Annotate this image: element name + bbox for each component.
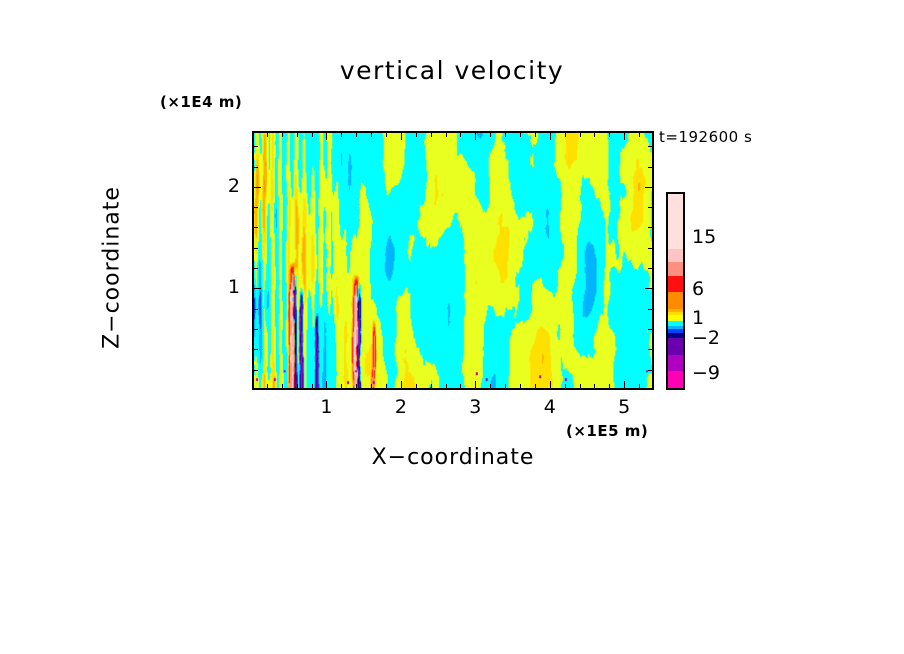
y-tick-label: 1 [210,276,240,298]
y-tick-right [648,146,652,147]
x-tick [624,381,625,388]
x-tick [535,384,536,388]
x-tick [297,384,298,388]
y-tick [254,227,258,228]
time-annotation: t=192600 s [659,128,752,146]
x-tick [475,381,476,388]
y-tick [254,248,258,249]
x-tick-top [446,133,447,137]
x-tick [386,384,387,388]
x-tick-top [460,133,461,137]
x-tick [371,384,372,388]
x-tick-top [312,133,313,137]
x-tick [580,384,581,388]
x-tick-top [550,133,551,140]
colorbar-band [668,262,683,276]
x-tick [326,381,327,388]
x-tick-top [416,133,417,137]
x-tick [312,384,313,388]
x-tick-top [609,133,610,137]
y-tick [254,167,258,168]
x-tick [267,384,268,388]
y-tick [254,187,261,188]
colorbar-tick-label: −2 [692,327,720,349]
y-tick-right [648,248,652,249]
y-tick-label: 2 [210,175,240,197]
x-tick-label: 2 [386,396,416,418]
x-tick-top [624,133,625,140]
colorbar-tick-label: 1 [692,307,704,329]
x-tick [341,384,342,388]
colorbar-band [668,338,683,355]
y-tick [254,370,258,371]
colorbar-band [668,194,683,249]
x-tick [416,384,417,388]
x-tick [520,384,521,388]
x-tick-top [267,133,268,137]
velocity-field-heatmap [254,133,652,388]
y-tick [254,146,258,147]
x-tick [282,384,283,388]
y-tick [254,268,258,269]
y-tick [254,288,261,289]
colorbar-tick-label: 6 [692,278,704,300]
colorbar-band [668,292,683,309]
colorbar-tick-label: 15 [692,226,716,248]
contour-plot-area [252,131,654,390]
x-tick-label: 5 [609,396,639,418]
colorbar-tick-label: −9 [692,362,720,384]
x-tick-top [580,133,581,137]
y-tick-right [648,207,652,208]
colorbar [666,192,685,390]
x-tick-top [520,133,521,137]
y-tick-right [648,268,652,269]
x-tick [356,384,357,388]
colorbar-band [668,249,683,263]
y-tick [254,349,258,350]
x-tick [505,384,506,388]
x-tick-top [535,133,536,137]
x-tick-top [356,133,357,137]
chart-title: vertical velocity [0,56,904,85]
x-tick [550,381,551,388]
y-tick-right [645,187,652,188]
x-tick-top [505,133,506,137]
x-tick [431,384,432,388]
y-tick-right [648,349,652,350]
colorbar-band [668,276,683,292]
x-tick [609,384,610,388]
x-axis-title: X−coordinate [252,445,654,470]
x-tick-top [594,133,595,137]
x-tick-top [431,133,432,137]
x-tick [401,381,402,388]
x-tick-top [386,133,387,137]
y-tick-right [648,167,652,168]
x-tick-top [297,133,298,137]
colorbar-band [668,355,683,371]
x-tick-top [490,133,491,137]
x-tick-top [326,133,327,140]
y-tick-right [648,370,652,371]
colorbar-band [668,371,683,388]
x-tick-top [371,133,372,137]
x-tick-top [639,133,640,137]
x-tick [565,384,566,388]
y-tick [254,329,258,330]
x-tick-top [475,133,476,140]
y-axis-unit-label: (×1E4 m) [160,93,242,111]
x-tick [639,384,640,388]
y-tick [254,309,258,310]
y-axis-title: Z−coordinate [100,138,125,398]
x-tick-top [401,133,402,140]
y-tick [254,207,258,208]
x-tick [594,384,595,388]
x-tick-label: 1 [311,396,341,418]
y-tick-right [648,309,652,310]
x-tick-label: 3 [460,396,490,418]
x-tick [460,384,461,388]
x-tick-top [565,133,566,137]
y-tick-right [648,329,652,330]
x-tick-label: 4 [535,396,565,418]
x-tick-top [282,133,283,137]
x-tick [446,384,447,388]
x-axis-unit-label: (×1E5 m) [566,422,648,440]
figure-canvas: vertical velocity (×1E4 m) t=192600 s 12… [0,0,904,654]
y-tick-right [648,227,652,228]
y-tick-right [645,288,652,289]
x-tick-top [341,133,342,137]
x-tick [490,384,491,388]
